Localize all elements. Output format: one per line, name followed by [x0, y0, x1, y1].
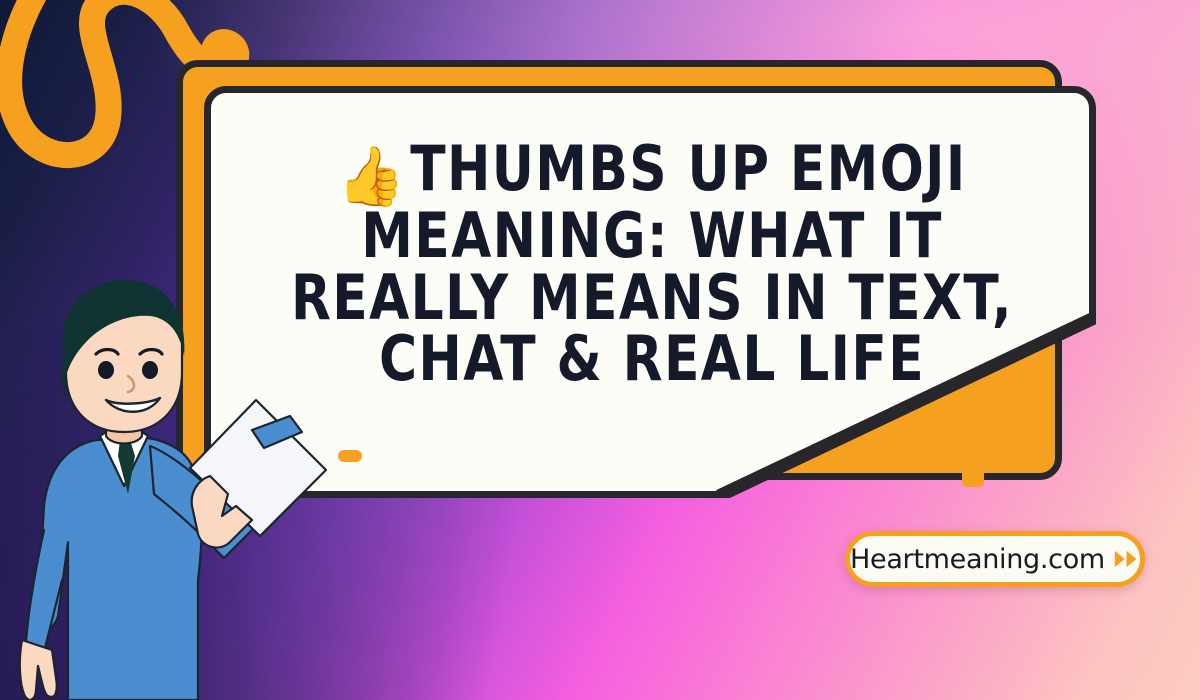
page-title: 👍THUMBS UP EMOJI MEANING: WHAT IT REALLY…	[263, 138, 1040, 390]
double-chevron-right-icon	[1113, 547, 1140, 571]
site-badge-label: Heartmeaning.com	[850, 544, 1105, 575]
card-orange-tab	[962, 411, 984, 487]
featured-image-canvas: 👍THUMBS UP EMOJI MEANING: WHAT IT REALLY…	[0, 0, 1200, 700]
cartoon-businessman	[8, 280, 338, 700]
decor-dash-right	[338, 450, 362, 462]
site-badge[interactable]: Heartmeaning.com	[845, 531, 1145, 587]
